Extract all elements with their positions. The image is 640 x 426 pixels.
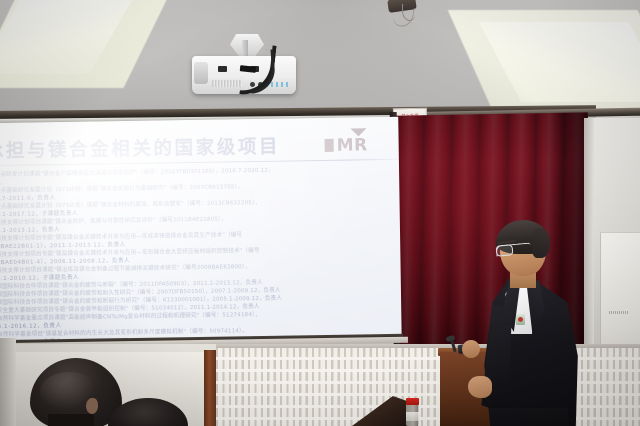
ceiling-projector [186, 36, 298, 98]
projection-screen: 承担与镁合金相关的国家级项目 MR 国家重点研发计划课题"镁合金产品残余应力消减… [0, 117, 402, 347]
ceiling [0, 0, 640, 118]
left-wall-post [0, 338, 16, 426]
presenter-badge-dot [518, 317, 523, 322]
logo-text: MR [337, 135, 368, 155]
audience-neck [48, 414, 94, 426]
audience-ear [86, 398, 98, 414]
conference-room-photo: 禁止吸烟 承担与镁合金相关的国家级项目 MR 国家重点研发计划课题"镁合金产品残… [0, 0, 640, 426]
water-bottle-label [406, 412, 419, 421]
cabinet-brand-mark [609, 311, 629, 314]
projector-vent [212, 80, 242, 87]
presenter-hair-side [532, 228, 550, 258]
wood-trim-middle [204, 350, 216, 426]
water-bottle-cap [406, 398, 419, 405]
right-wall-column [584, 118, 594, 358]
eyeglasses-lens [496, 244, 514, 256]
imr-logo: MR [324, 129, 384, 156]
presenter [476, 222, 584, 426]
presenter-hand-upper [462, 340, 480, 358]
slide-content: 承担与镁合金相关的国家级项目 MR 国家重点研发计划课题"镁合金产品残余应力消减… [0, 117, 402, 347]
presenter-lower-body [490, 408, 568, 426]
projector-lens [194, 62, 208, 84]
presenter-hand-lower [468, 376, 492, 398]
ceiling-bracket-fixture-icon [380, 0, 424, 24]
projector-port-1 [218, 66, 227, 72]
slide-body: 国家重点研发计划课题"镁合金产品残余应力消减与表面防护"（编号：2016YFB0… [0, 165, 402, 347]
logo-i-bar [325, 139, 334, 152]
fixture-cable-secondary [402, 4, 415, 21]
slide-title: 承担与镁合金相关的国家级项目 [0, 132, 315, 163]
